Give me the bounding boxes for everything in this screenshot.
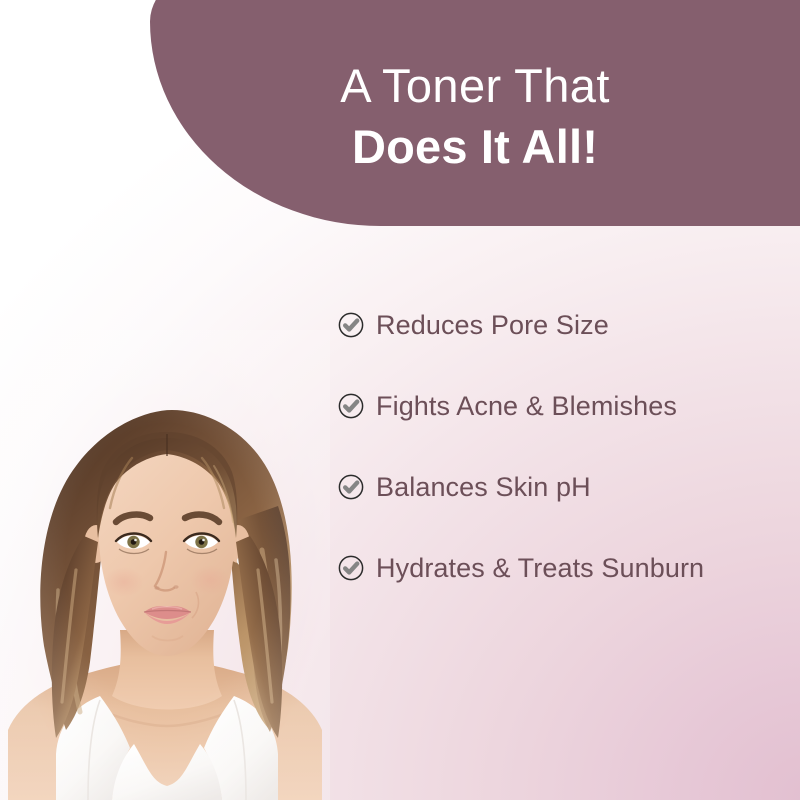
benefit-item-4: Hydrates & Treats Sunburn (338, 545, 778, 591)
marketing-image-canvas: A Toner That Does It All! Reduces Pore S… (0, 0, 800, 800)
check-circle-icon (338, 474, 364, 500)
benefit-item-1: Reduces Pore Size (338, 302, 778, 348)
benefit-label-4: Hydrates & Treats Sunburn (376, 555, 704, 582)
headline-line-1: A Toner That (340, 62, 610, 109)
check-circle-icon (338, 393, 364, 419)
benefit-label-1: Reduces Pore Size (376, 312, 609, 339)
check-circle-icon (338, 555, 364, 581)
headline-line-2: Does It All! (352, 123, 598, 170)
check-circle-icon (338, 312, 364, 338)
model-portrait-photo (0, 330, 330, 800)
benefit-label-2: Fights Acne & Blemishes (376, 393, 677, 420)
benefit-item-2: Fights Acne & Blemishes (338, 383, 778, 429)
benefits-list: Reduces Pore Size Fights Acne & Blemishe… (338, 302, 778, 591)
header-banner: A Toner That Does It All! (150, 0, 800, 226)
benefit-item-3: Balances Skin pH (338, 464, 778, 510)
benefit-label-3: Balances Skin pH (376, 474, 591, 501)
